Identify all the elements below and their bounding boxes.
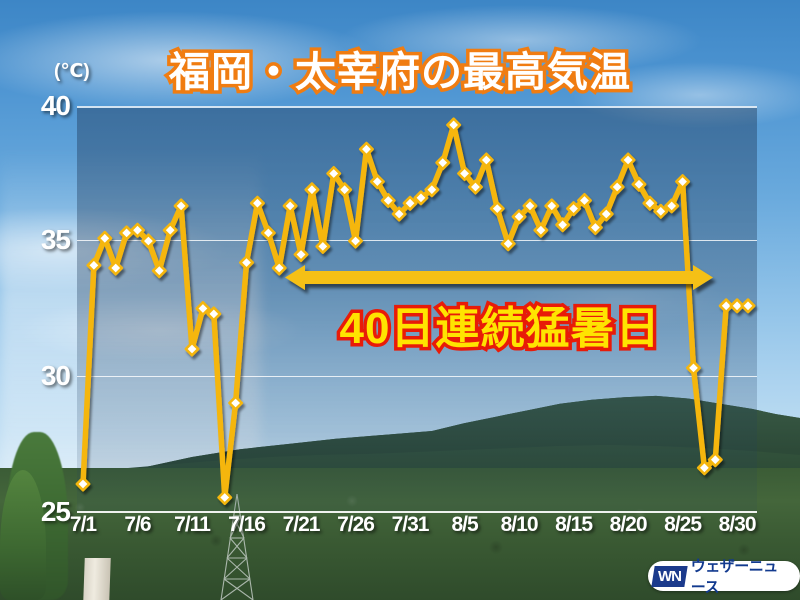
streak-annotation-text: 40日連続猛暑日 [280,292,720,356]
data-point [447,119,459,131]
wn-mark-icon: WN [651,566,687,587]
data-point [284,200,296,212]
data-point [295,248,307,260]
data-point [186,343,198,355]
data-point [273,262,285,274]
data-point [349,235,361,247]
data-point [687,362,699,374]
data-point [229,397,241,409]
data-point [77,478,89,490]
data-point [240,256,252,268]
data-point [306,184,318,196]
data-point [491,202,503,214]
data-point [317,240,329,252]
wn-mark-label: WN [658,568,681,585]
page-title: 福岡・太宰府の最高気温 [0,38,800,98]
weathernews-logo: WN ウェザーニュース [648,561,800,591]
logo-name-label: ウェザーニュース [691,555,790,597]
data-point [742,300,754,312]
data-point [120,227,132,239]
data-point [219,491,231,503]
screenshot-root: (℃) 40 35 30 25 7/17/67/117/167/217/267/… [0,0,800,600]
